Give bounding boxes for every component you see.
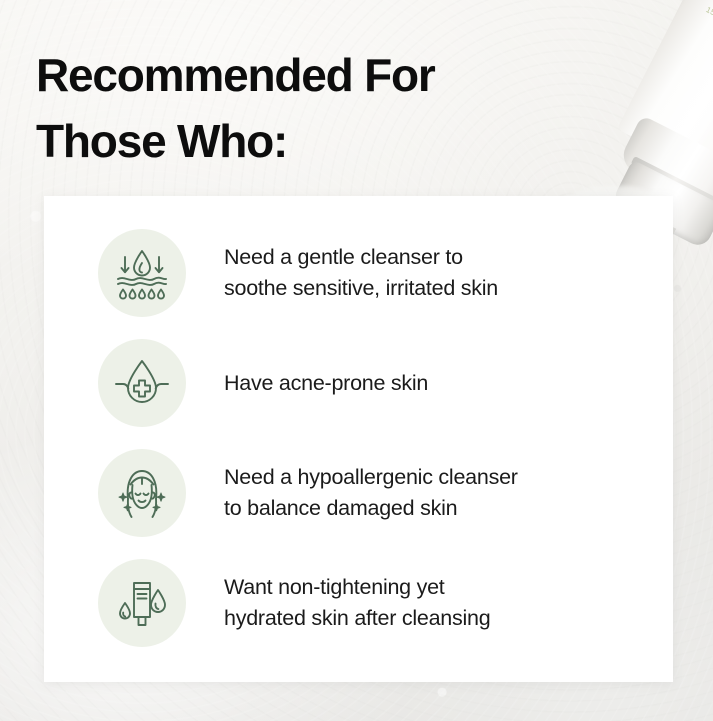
glowing-face-sparkle-icon (98, 449, 186, 537)
page-title: Recommended For Those Who: (36, 42, 506, 174)
list-item-label: Want non-tightening yet hydrated skin af… (224, 572, 490, 634)
list-item-label: Need a hypoallergenic cleanser to balanc… (224, 462, 518, 524)
hydration-absorption-icon (98, 229, 186, 317)
benefits-card: Need a gentle cleanser to soothe sensiti… (44, 196, 673, 682)
list-item: Want non-tightening yet hydrated skin af… (44, 548, 673, 658)
list-item: Need a gentle cleanser to soothe sensiti… (44, 218, 673, 328)
product-infographic: Recommended For Those Who: Centella Clea… (0, 0, 713, 721)
list-item-label: Have acne-prone skin (224, 368, 428, 399)
benefits-list: Need a gentle cleanser to soothe sensiti… (44, 196, 673, 658)
droplet-medical-cross-icon (98, 339, 186, 427)
list-item-label: Need a gentle cleanser to soothe sensiti… (224, 242, 498, 304)
list-item: Have acne-prone skin (44, 328, 673, 438)
cleanser-tube-droplets-icon (98, 559, 186, 647)
list-item: Need a hypoallergenic cleanser to balanc… (44, 438, 673, 548)
